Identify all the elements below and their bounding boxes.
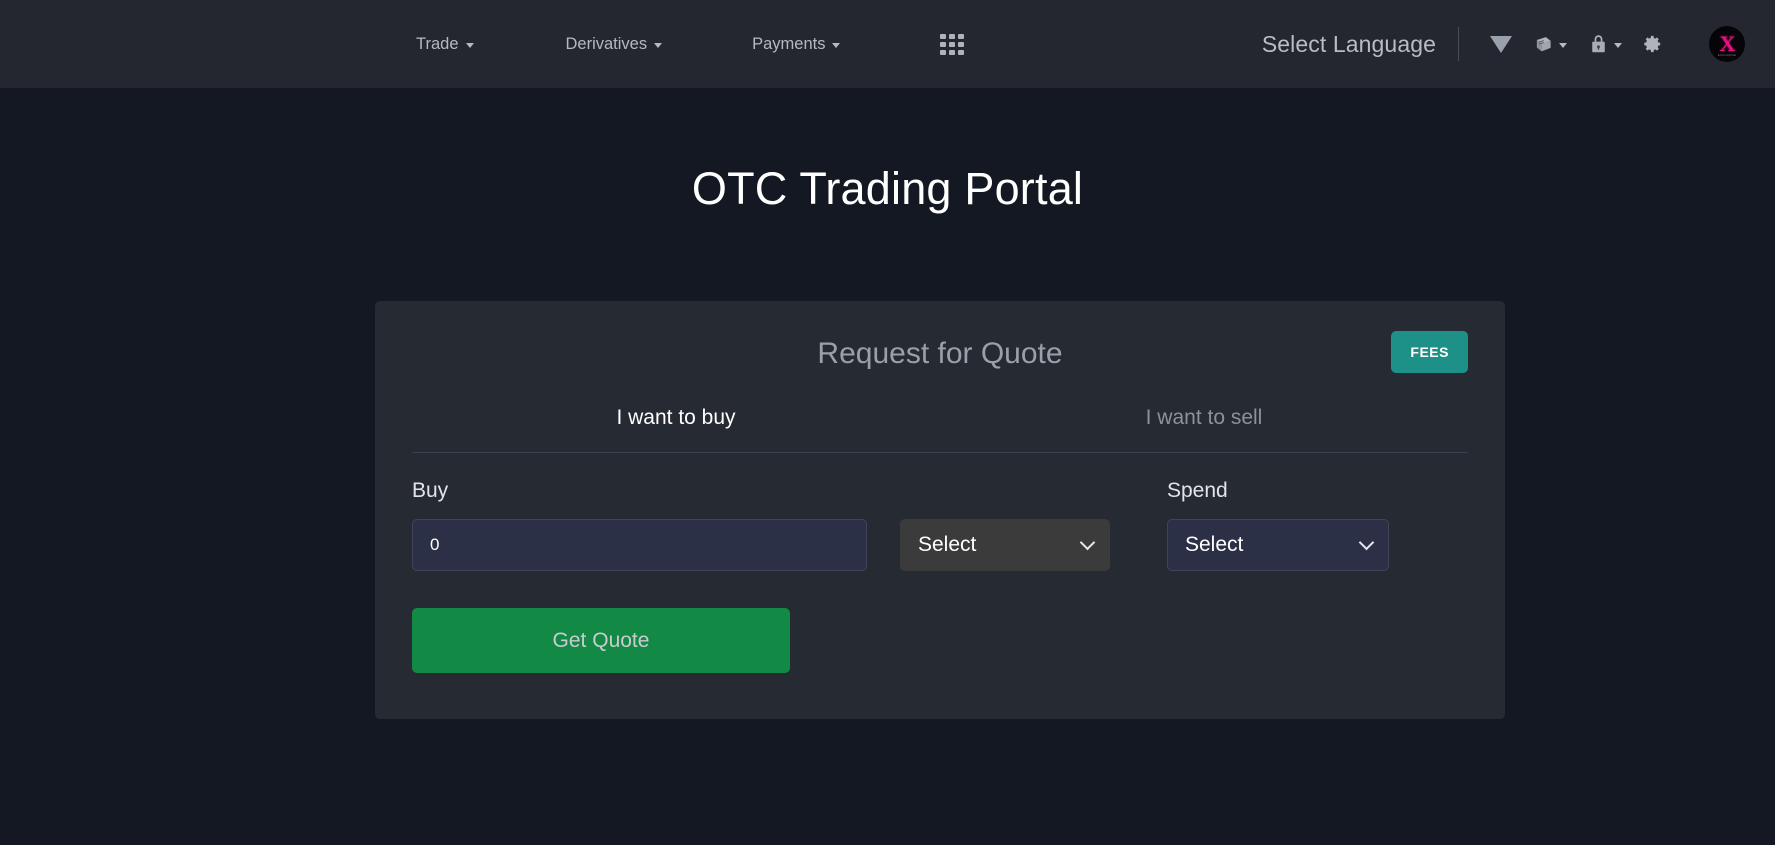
buy-currency-group: . Select <box>867 479 1110 571</box>
spend-field-group: Spend Select <box>1167 479 1389 571</box>
chevron-down-icon <box>1080 535 1096 551</box>
chevron-down-icon <box>1614 43 1622 48</box>
chevron-down-icon <box>654 43 662 48</box>
grid-apps-icon <box>940 34 964 55</box>
triangle-down-button[interactable] <box>1479 30 1523 59</box>
tab-i-want-to-buy[interactable]: I want to buy <box>412 398 940 452</box>
page-title: OTC Trading Portal <box>0 163 1775 215</box>
chevron-down-icon <box>466 43 474 48</box>
fees-button[interactable]: FEES <box>1391 331 1468 373</box>
nav-item-derivatives-label: Derivatives <box>566 35 648 54</box>
buy-currency-select-value: Select <box>918 533 976 557</box>
spend-currency-select[interactable]: Select <box>1167 519 1389 571</box>
triangle-down-icon <box>1490 36 1512 53</box>
rfq-title: Request for Quote <box>412 337 1468 371</box>
grid-apps-button[interactable] <box>932 30 972 59</box>
spend-currency-select-value: Select <box>1185 533 1243 557</box>
gear-icon <box>1644 35 1662 53</box>
rfq-card-header: Request for Quote FEES <box>412 331 1468 389</box>
rfq-tabs: I want to buy I want to sell <box>412 398 1468 453</box>
nav-item-payments-label: Payments <box>752 35 825 54</box>
settings-button[interactable] <box>1633 29 1673 59</box>
chevron-down-icon <box>1559 43 1567 48</box>
spend-label: Spend <box>1167 479 1389 503</box>
rfq-form-row: Buy . Select Spend Select <box>412 479 1468 571</box>
buy-amount-input[interactable] <box>412 519 867 571</box>
header-divider <box>1458 27 1459 61</box>
get-quote-button[interactable]: Get Quote <box>412 608 790 673</box>
lock-bag-icon <box>1589 34 1608 55</box>
nav-item-derivatives[interactable]: Derivatives <box>552 35 677 54</box>
chevron-down-icon <box>832 43 840 48</box>
rfq-card: Request for Quote FEES I want to buy I w… <box>375 301 1505 719</box>
book-menu-button[interactable] <box>1523 29 1578 60</box>
top-navbar: Trade Derivatives Payments Select Langua… <box>0 0 1775 88</box>
header-actions: Select Language <box>1262 26 1775 62</box>
lock-bag-menu-button[interactable] <box>1578 28 1633 61</box>
user-avatar[interactable]: X EXCHANGE <box>1709 26 1745 62</box>
nav-item-trade-label: Trade <box>416 35 459 54</box>
nav-item-payments[interactable]: Payments <box>738 35 854 54</box>
tab-i-want-to-sell[interactable]: I want to sell <box>940 398 1468 452</box>
nav-item-trade[interactable]: Trade <box>402 35 488 54</box>
language-selector[interactable]: Select Language <box>1262 31 1436 58</box>
book-icon <box>1534 35 1553 54</box>
avatar-logo-glyph: X <box>1720 33 1735 55</box>
avatar-logo-subtext: EXCHANGE <box>1718 53 1736 57</box>
buy-currency-select[interactable]: Select <box>900 519 1110 571</box>
primary-nav: Trade Derivatives Payments <box>402 30 972 59</box>
buy-label: Buy <box>412 479 867 503</box>
buy-field-group: Buy <box>412 479 867 571</box>
chevron-down-icon <box>1359 535 1375 551</box>
